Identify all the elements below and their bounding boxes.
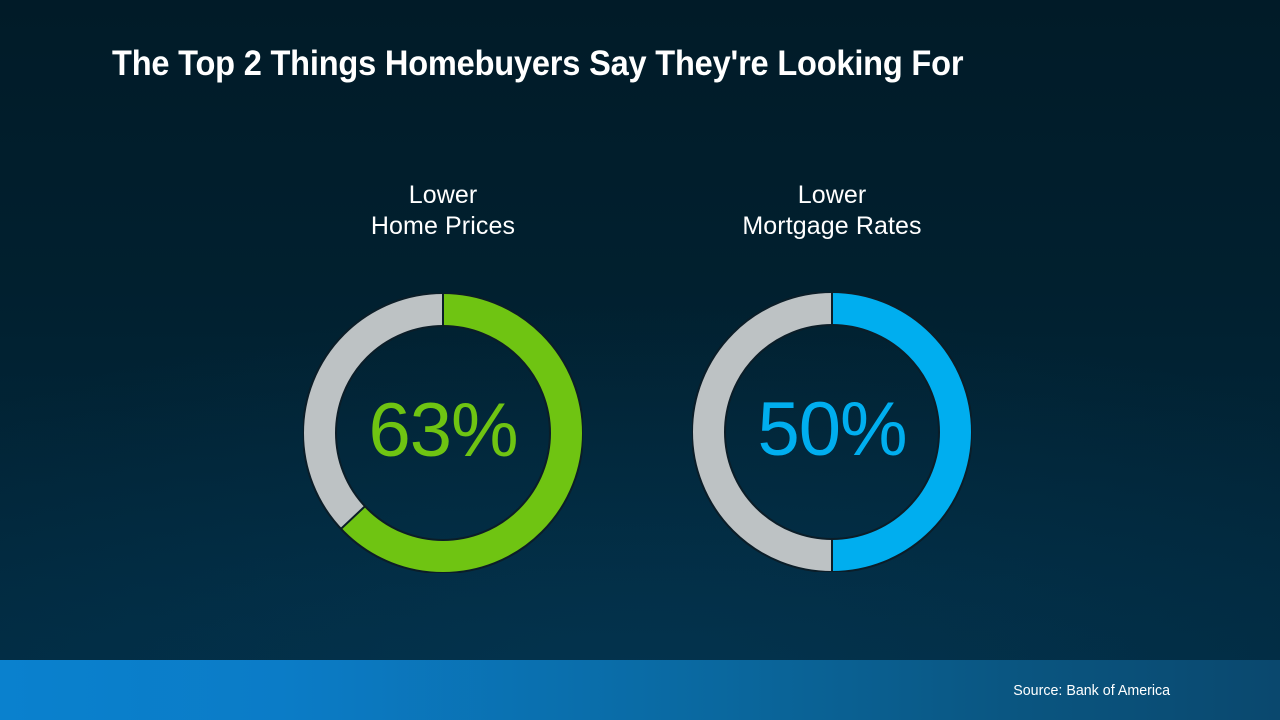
- donut-chart-group: Lower Home Prices 63%: [0, 180, 1280, 610]
- infographic-slide: The Top 2 Things Homebuyers Say They're …: [0, 0, 1280, 720]
- chart-label-line1: Lower: [409, 181, 478, 209]
- donut-lower-mortgage-rates: 50%: [692, 292, 972, 572]
- chart-lower-home-prices: Lower Home Prices 63%: [248, 180, 638, 573]
- footer-bar: Source: Bank of America: [0, 660, 1280, 720]
- donut-value-home-prices: 63%: [303, 293, 583, 573]
- donut-lower-home-prices: 63%: [303, 293, 583, 573]
- page-title: The Top 2 Things Homebuyers Say They're …: [112, 44, 963, 84]
- donut-value-mortgage-rates: 50%: [692, 292, 972, 572]
- chart-label-lower-home-prices: Lower Home Prices: [248, 180, 638, 242]
- chart-label-line1: Lower: [798, 181, 867, 209]
- chart-label-lower-mortgage-rates: Lower Mortgage Rates: [637, 180, 1027, 242]
- chart-label-line2: Home Prices: [248, 211, 638, 242]
- source-attribution: Source: Bank of America: [1013, 682, 1170, 699]
- chart-label-line2: Mortgage Rates: [637, 211, 1027, 242]
- chart-lower-mortgage-rates: Lower Mortgage Rates 50%: [637, 180, 1027, 572]
